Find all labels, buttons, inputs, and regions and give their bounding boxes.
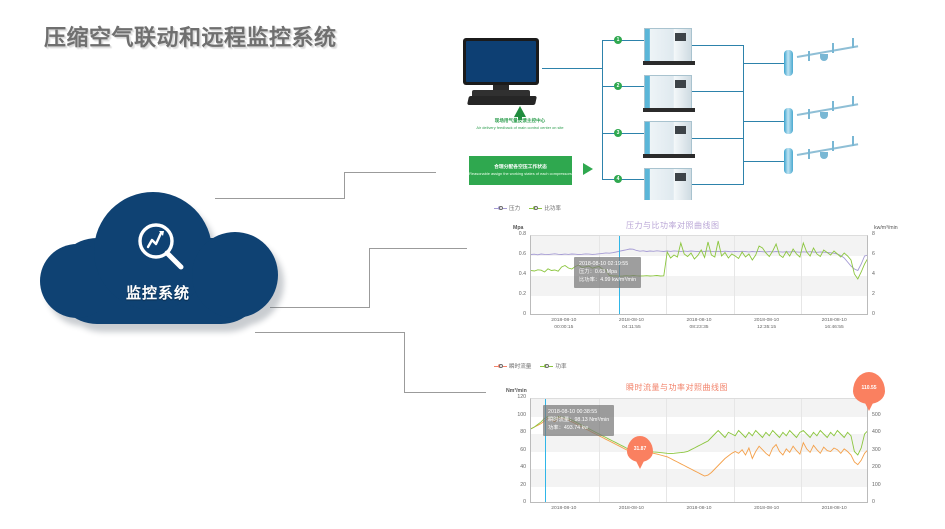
chart-magnifier-icon — [132, 218, 190, 276]
wire-to-tank-3 — [743, 161, 787, 162]
air-tank-icon — [784, 148, 793, 174]
y2-axis-tick: 2 — [872, 291, 898, 297]
x-tick-date: 2018-08-10 — [671, 506, 727, 513]
arrow-right-icon — [583, 163, 593, 175]
wire-vertical-bus-left — [602, 40, 603, 180]
pneumatic-tool-icon — [832, 43, 834, 53]
wire-monitor-to-bus — [542, 68, 602, 69]
pneumatic-tool-icon — [808, 109, 810, 119]
green-box-label-en: Reasonable assign the working states of … — [469, 171, 572, 176]
min-marker-label: 31.87 — [627, 436, 653, 462]
y-axis-tick: 60 — [500, 447, 526, 453]
green-box-label-cn: 合理分配各空压工作状态 — [494, 164, 547, 171]
x-tick-time: 04:11:55 — [603, 325, 659, 332]
legend-item-flow[interactable]: 瞬时流量 — [494, 362, 531, 370]
x-axis-tick: 2018-08-1012:35:15 — [739, 318, 795, 331]
connector-line-mid-end — [369, 248, 467, 249]
flow-power-chart: 瞬时流量 功率 瞬时流量与功率对照曲线图 Nm³/min 12010080604… — [486, 358, 936, 526]
system-diagram: 现场用气量反馈主控中心 Air delivery feedback of mai… — [432, 18, 938, 208]
wire-out-4 — [692, 184, 744, 185]
wire-out-2 — [692, 91, 744, 92]
air-compressor-icon — [644, 121, 692, 155]
cloud-label: 监控系统 — [36, 282, 280, 303]
pressure-chart-tooltip: 2018-08-10 02:19:55 压力：0.63 Mpa 比功率：4.99… — [574, 257, 641, 288]
legend-label: 功率 — [555, 362, 566, 370]
air-compressor-icon — [644, 28, 692, 62]
y-axis-tick: 0.8 — [500, 231, 526, 237]
y-axis-tick: 0.6 — [500, 251, 526, 257]
control-center-label: 现场用气量反馈主控中心 Air delivery feedback of mai… — [464, 118, 576, 131]
y-axis-tick: 0.4 — [500, 271, 526, 277]
x-axis-tick: 2018-08-10 — [806, 506, 862, 513]
legend-label: 压力 — [509, 204, 520, 212]
flow-power-chart-title: 瞬时流量与功率对照曲线图 — [626, 382, 728, 393]
wire-branch-2 — [602, 86, 644, 87]
pneumatic-tool-icon — [832, 101, 834, 111]
y-axis-tick: 0 — [500, 499, 526, 505]
x-tick-date: 2018-08-10 — [536, 318, 592, 325]
tooltip-timestamp: 2018-08-10 00:38:55 — [548, 408, 609, 416]
pressure-chart-legend[interactable]: 压力 比功率 — [494, 204, 561, 212]
wire-to-tank-2 — [743, 121, 787, 122]
pneumatic-tool-icon — [820, 112, 828, 119]
y2-axis-tick: 6 — [872, 251, 898, 257]
pneumatic-tool-icon — [808, 51, 810, 61]
pressure-chart: 压力 比功率 压力与比功率对照曲线图 Mpa kw/m³/min 0.80.60… — [486, 200, 936, 335]
wire-branch-4 — [602, 179, 644, 180]
node-badge-3: 3 — [614, 129, 622, 137]
x-tick-date: 2018-08-10 — [536, 506, 592, 513]
legend-marker-icon — [529, 205, 542, 211]
legend-marker-icon — [494, 205, 507, 211]
y2-axis-tick: 0 — [872, 311, 898, 317]
y2-axis-tick: 200 — [872, 464, 898, 470]
pressure-chart-title: 压力与比功率对照曲线图 — [626, 220, 720, 231]
pneumatic-tool-icon — [832, 141, 834, 151]
green-callout-box: 合理分配各空压工作状态 Reasonable assign the workin… — [469, 156, 572, 185]
y-axis-tick: 0.2 — [500, 291, 526, 297]
x-axis-tick: 2018-08-1016:46:55 — [806, 318, 862, 331]
y-axis-tick: 0 — [500, 311, 526, 317]
pneumatic-tool-icon — [808, 149, 810, 159]
x-tick-time: 08:23:35 — [671, 325, 727, 332]
x-tick-date: 2018-08-10 — [806, 318, 862, 325]
desktop-monitor-icon — [460, 38, 542, 100]
legend-label: 比功率 — [544, 204, 561, 212]
x-tick-date: 2018-08-10 — [806, 506, 862, 513]
x-axis-tick: 2018-08-1008:23:35 — [671, 318, 727, 331]
tooltip-line-1: 瞬时流量：98.13 Nm³/min — [548, 416, 609, 424]
y2-axis-tick: 8 — [872, 231, 898, 237]
x-tick-date: 2018-08-10 — [603, 318, 659, 325]
control-center-label-cn: 现场用气量反馈主控中心 — [464, 118, 576, 125]
legend-item-pressure[interactable]: 压力 — [494, 204, 520, 212]
pneumatic-tool-icon — [852, 38, 854, 48]
wire-branch-1 — [602, 40, 644, 41]
connector-line-bottom-riser — [404, 332, 405, 393]
connector-line-top-riser — [344, 172, 345, 199]
legend-item-specific-power[interactable]: 比功率 — [529, 204, 561, 212]
min-marker: 31.87 — [627, 436, 653, 462]
x-tick-time: 12:35:15 — [739, 325, 795, 332]
y2-axis-tick: 0 — [872, 499, 898, 505]
x-axis-tick: 2018-08-10 — [603, 506, 659, 513]
connector-line-bottom — [255, 332, 405, 333]
pneumatic-tool-icon — [820, 54, 828, 61]
air-compressor-icon — [644, 75, 692, 109]
x-axis-tick: 2018-08-1000:00:15 — [536, 318, 592, 331]
y2-axis-tick: 500 — [872, 412, 898, 418]
x-axis-tick: 2018-08-10 — [671, 506, 727, 513]
air-tank-icon — [784, 108, 793, 134]
flow-power-chart-tooltip: 2018-08-10 00:38:55 瞬时流量：98.13 Nm³/min 功… — [543, 405, 614, 436]
x-tick-time: 00:00:15 — [536, 325, 592, 332]
tooltip-line-1: 压力：0.63 Mpa — [579, 268, 636, 276]
y2-axis-tick: 400 — [872, 429, 898, 435]
connector-line-mid-riser — [369, 248, 370, 308]
x-axis-tick: 2018-08-1004:11:55 — [603, 318, 659, 331]
pneumatic-tool-icon — [852, 96, 854, 106]
wire-vertical-bus-right — [743, 45, 744, 185]
page-title: 压缩空气联动和远程监控系统 — [44, 20, 337, 52]
monitoring-system-cloud[interactable]: 监控系统 — [36, 186, 286, 331]
y-axis-tick: 40 — [500, 464, 526, 470]
wire-to-tank-1 — [743, 63, 787, 64]
pneumatic-tool-icon — [852, 136, 854, 146]
max-marker-label: 110.55 — [853, 372, 885, 404]
wire-branch-3 — [602, 133, 644, 134]
x-tick-date: 2018-08-10 — [671, 318, 727, 325]
y-axis-tick: 120 — [500, 394, 526, 400]
control-center-label-en: Air delivery feedback of main control ce… — [464, 125, 576, 131]
node-badge-2: 2 — [614, 82, 622, 90]
wire-out-3 — [692, 138, 744, 139]
x-axis-tick: 2018-08-10 — [536, 506, 592, 513]
node-badge-4: 4 — [614, 175, 622, 183]
tooltip-line-2: 功率：493.74 kw — [548, 424, 609, 432]
air-tank-icon — [784, 50, 793, 76]
legend-label: 瞬时流量 — [509, 362, 531, 370]
y-axis-tick: 100 — [500, 412, 526, 418]
x-tick-time: 16:46:55 — [806, 325, 862, 332]
pneumatic-tool-icon — [820, 152, 828, 159]
x-tick-date: 2018-08-10 — [739, 506, 795, 513]
connector-line-top-end — [344, 172, 436, 173]
y2-axis-tick: 300 — [872, 447, 898, 453]
wire-out-1 — [692, 45, 744, 46]
x-tick-date: 2018-08-10 — [739, 318, 795, 325]
connector-line-bottom-end — [404, 392, 486, 393]
legend-marker-icon — [540, 363, 553, 369]
max-marker: 110.55 — [853, 372, 885, 404]
flow-power-chart-legend[interactable]: 瞬时流量 功率 — [494, 362, 567, 370]
air-compressor-icon — [644, 168, 692, 202]
y2-axis-tick: 4 — [872, 271, 898, 277]
y-axis-tick: 80 — [500, 429, 526, 435]
tooltip-timestamp: 2018-08-10 02:19:55 — [579, 260, 636, 268]
y2-axis-tick: 100 — [872, 482, 898, 488]
x-axis-tick: 2018-08-10 — [739, 506, 795, 513]
legend-marker-icon — [494, 363, 507, 369]
x-tick-date: 2018-08-10 — [603, 506, 659, 513]
y-axis-tick: 20 — [500, 482, 526, 488]
legend-item-power[interactable]: 功率 — [540, 362, 566, 370]
node-badge-1: 1 — [614, 36, 622, 44]
tooltip-line-2: 比功率：4.99 kw/m³/min — [579, 276, 636, 284]
